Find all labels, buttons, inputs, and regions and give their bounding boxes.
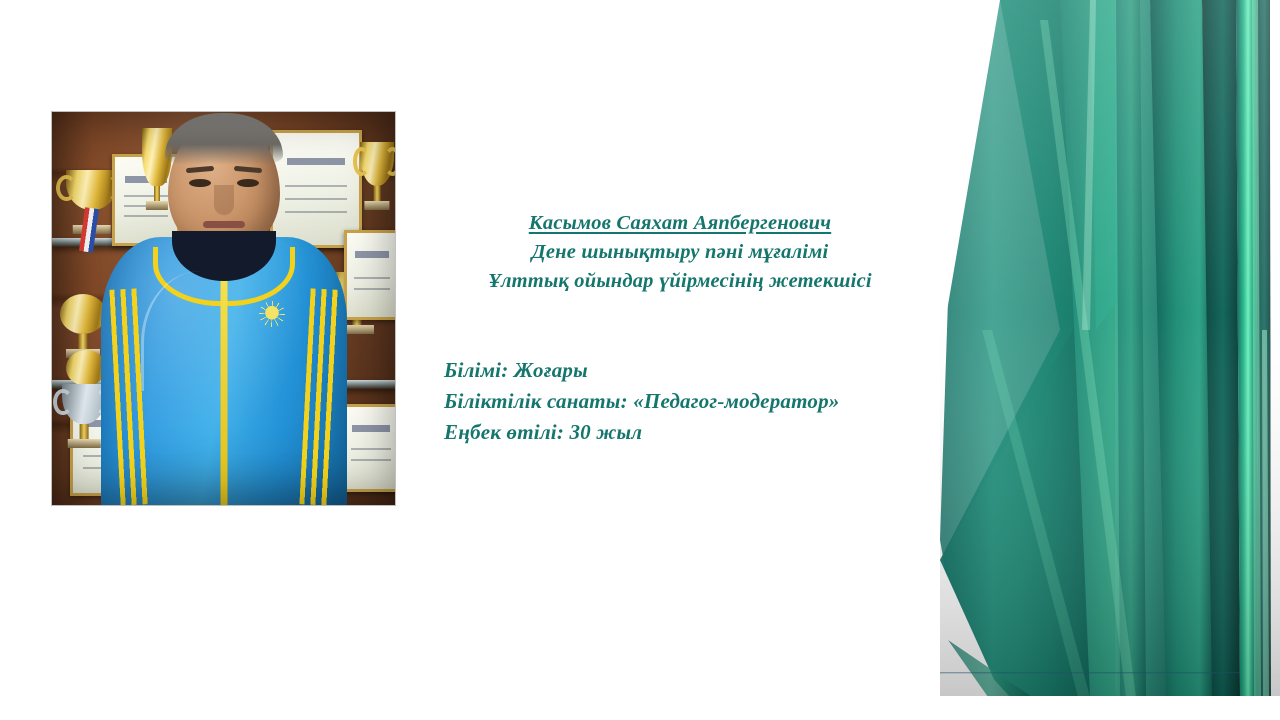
teacher-photo — [52, 112, 395, 505]
teacher-position: Дене шынықтыру пәні мұғалімі — [420, 238, 940, 267]
person-figure — [101, 205, 347, 505]
shoulder-seam — [141, 271, 240, 391]
title-block: Касымов Саяхат Аяпбергенович Дене шынықт… — [420, 209, 940, 296]
trophy-icon — [60, 294, 106, 334]
nose — [214, 185, 234, 215]
slide-canvas: Касымов Саяхат Аяпбергенович Дене шынықт… — [0, 0, 1280, 720]
eyebrow — [233, 166, 261, 173]
certificate — [340, 404, 395, 492]
eyebrow — [185, 166, 213, 173]
experience-line: Еңбек өтілі: 30 жыл — [444, 417, 964, 448]
mouth — [203, 221, 245, 228]
kazakhstan-emblem-icon — [259, 301, 285, 327]
teacher-role: Ұлттық ойындар үйірмесінің жетекшісі — [420, 267, 940, 296]
sleeve-stripes — [299, 288, 338, 505]
eye — [237, 179, 259, 187]
teacher-name: Касымов Саяхат Аяпбергенович — [420, 209, 940, 238]
photo-content — [52, 112, 395, 505]
info-block: Білімі: Жоғары Біліктілік санаты: «Педаг… — [444, 355, 964, 448]
tracksuit-jacket — [101, 237, 347, 505]
certificate — [344, 230, 395, 320]
education-line: Білімі: Жоғары — [444, 355, 964, 386]
decorative-ribbon-artwork — [940, 0, 1280, 697]
category-line: Біліктілік санаты: «Педагог-модератор» — [444, 386, 964, 417]
eye — [189, 179, 211, 187]
